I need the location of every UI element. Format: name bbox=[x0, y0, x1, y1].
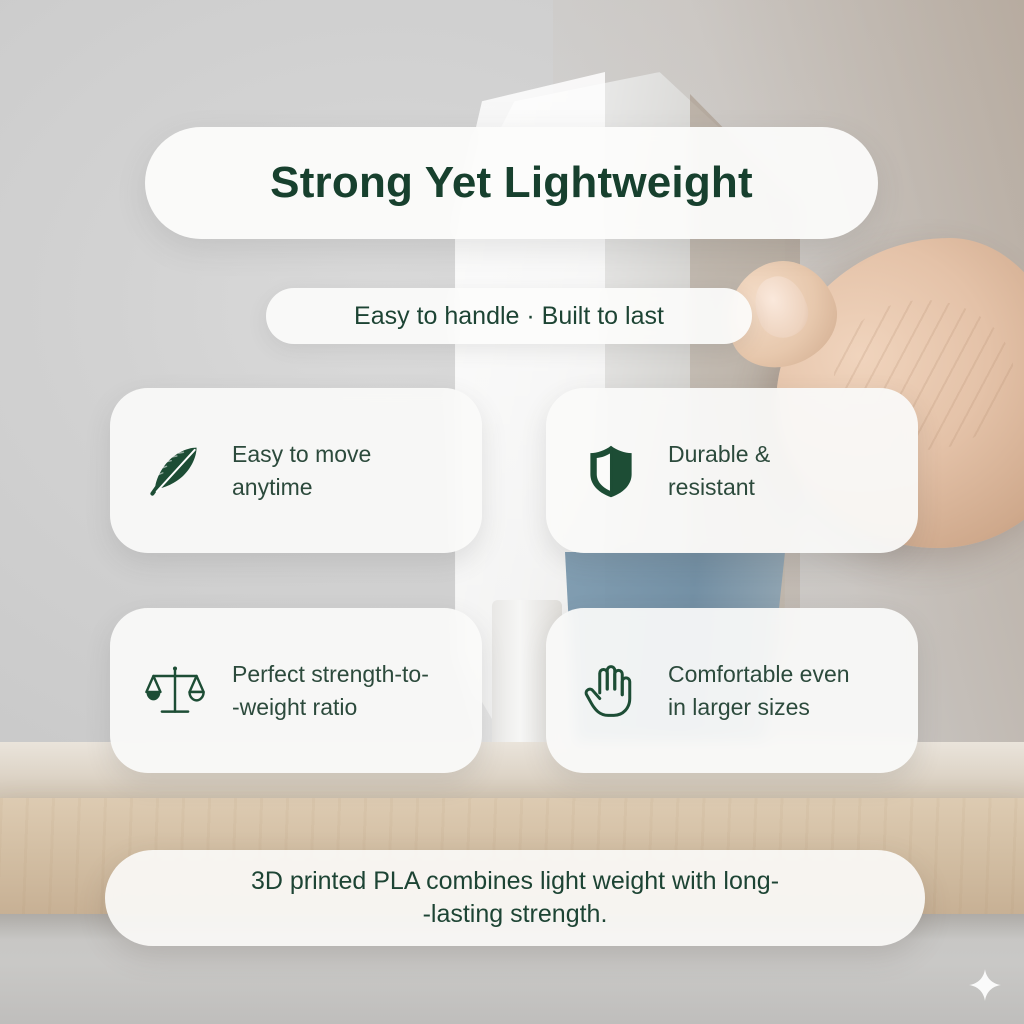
feature-card-durable[interactable]: Durable & resistant bbox=[546, 388, 918, 553]
open-hand-icon bbox=[580, 660, 642, 722]
feature-label-line1: Easy to move bbox=[232, 441, 371, 467]
feature-label: Easy to move anytime bbox=[232, 438, 371, 503]
infographic-stage: Strong Yet Lightweight Easy to handle · … bbox=[0, 0, 1024, 1024]
feature-label-line1: Durable & bbox=[668, 441, 770, 467]
caption-text: 3D printed PLA combines light weight wit… bbox=[217, 865, 813, 932]
balance-scale-icon bbox=[144, 660, 206, 722]
caption-pill: 3D printed PLA combines light weight wit… bbox=[105, 850, 925, 946]
page-title: Strong Yet Lightweight bbox=[270, 158, 753, 208]
feature-label: Perfect strength-to- -weight ratio bbox=[232, 658, 429, 723]
subtitle-pill: Easy to handle · Built to last bbox=[266, 288, 752, 344]
feature-label: Comfortable even in larger sizes bbox=[668, 658, 850, 723]
caption-line1: 3D printed PLA combines light weight wit… bbox=[251, 867, 779, 895]
feature-label-line1: Comfortable even bbox=[668, 661, 850, 687]
feature-label-line2: resistant bbox=[668, 474, 755, 500]
feature-card-easy-to-move[interactable]: Easy to move anytime bbox=[110, 388, 482, 553]
feature-label-line2: -weight ratio bbox=[232, 694, 357, 720]
feature-card-strength-to-weight[interactable]: Perfect strength-to- -weight ratio bbox=[110, 608, 482, 773]
feature-card-grid: Easy to move anytime Durable & resistant bbox=[110, 388, 918, 773]
sparkle-icon bbox=[968, 968, 1002, 1002]
caption-line2: -lasting strength. bbox=[423, 900, 608, 928]
feature-label: Durable & resistant bbox=[668, 438, 770, 503]
page-subtitle: Easy to handle · Built to last bbox=[354, 302, 664, 331]
feature-label-line2: anytime bbox=[232, 474, 313, 500]
feature-label-line2: in larger sizes bbox=[668, 694, 810, 720]
feather-icon bbox=[144, 440, 206, 502]
shield-icon bbox=[580, 440, 642, 502]
feature-card-comfortable[interactable]: Comfortable even in larger sizes bbox=[546, 608, 918, 773]
title-pill: Strong Yet Lightweight bbox=[145, 127, 878, 239]
feature-label-line1: Perfect strength-to- bbox=[232, 661, 429, 687]
